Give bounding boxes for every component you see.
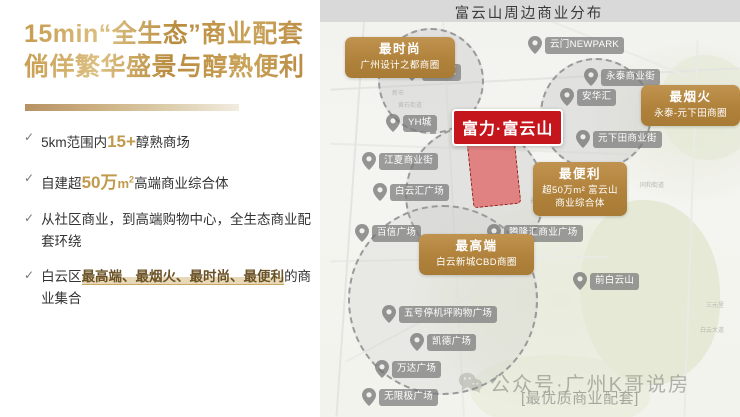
map-micro-label: 同和街道 <box>640 180 664 189</box>
panel-title: 15min“全生态”商业配套 倘佯繁华盛景与醇熟便利 <box>24 18 310 84</box>
map-pin-icon <box>576 130 590 148</box>
poi-marker[interactable]: 永泰商业街 <box>584 68 660 86</box>
map-micro-label: 三元里 <box>706 300 724 309</box>
map-pin-icon <box>382 305 396 323</box>
poi-label: 安华汇 <box>577 89 616 106</box>
gold-callout-subtitle: 永泰-元下田商圈 <box>650 107 731 120</box>
map-pin-icon <box>573 272 587 290</box>
gold-callout-subtitle: 广州设计之都商圈 <box>354 59 446 72</box>
project-main-label[interactable]: 富力·富云山 <box>452 109 563 146</box>
check-icon: ✓ <box>24 209 34 228</box>
gold-callout-title: 最高端 <box>428 239 525 255</box>
gold-callout-title: 最时尚 <box>354 42 446 58</box>
poi-label: 前白云山 <box>590 273 639 290</box>
bullet-item: ✓5km范围内15+醇熟商场 <box>24 128 314 156</box>
panel-title-line2: 倘佯繁华盛景与醇熟便利 <box>24 51 310 84</box>
poi-label: 百信广场 <box>372 225 421 242</box>
watermark-overlay: [最优质商业配套] <box>521 387 639 408</box>
poi-marker[interactable]: YH城 <box>386 114 437 132</box>
map-micro-label: 白云大道 <box>700 325 724 334</box>
map-pin-icon <box>410 333 424 351</box>
bullet-text-span: 白云区 <box>41 269 82 284</box>
poi-label: 凯德广场 <box>427 334 476 351</box>
check-icon: ✓ <box>24 266 34 285</box>
gold-callout[interactable]: 最高端白云新城CBD商圈 <box>419 234 534 275</box>
bullet-text: 自建超50万m2高端商业综合体 <box>41 169 314 197</box>
poi-label: 永泰商业街 <box>601 69 660 86</box>
poi-marker[interactable]: 安华汇 <box>560 88 616 106</box>
poi-marker[interactable]: 五号停机坪购物广场 <box>382 305 497 323</box>
check-icon: ✓ <box>24 128 34 147</box>
bullet-text-span: 5km范围内 <box>41 135 107 150</box>
map-pin-icon <box>528 36 542 54</box>
map-pin-icon <box>584 68 598 86</box>
poi-marker[interactable]: 白云汇广场 <box>373 183 449 201</box>
poi-label: 云门NEWPARK <box>545 37 624 54</box>
bullet-text-span: 自建超 <box>41 176 82 191</box>
poi-label: YH城 <box>403 115 437 132</box>
bullet-text-span: 50万 <box>82 173 118 192</box>
poi-marker[interactable]: 百信广场 <box>355 224 421 242</box>
poi-marker[interactable]: 元下田商业街 <box>576 130 662 148</box>
wechat-icon <box>458 372 483 393</box>
bullet-item: ✓从社区商业，到高端购物中心，全生态商业配套环绕 <box>24 209 314 253</box>
bullet-text-span: m <box>117 176 129 191</box>
gold-callout-subtitle: 超50万m² 富云山商业综合体 <box>542 184 618 211</box>
title-divider <box>25 104 239 111</box>
poi-marker[interactable]: 前白云山 <box>573 272 639 290</box>
bullet-text-span: 从社区商业，到高端购物中心，全生态商业配套环绕 <box>41 212 311 249</box>
map-title: 富云山周边商业分布 <box>318 2 740 23</box>
bullet-text-span: 醇熟商场 <box>136 135 190 150</box>
map-micro-label: 新市 <box>392 88 404 97</box>
bullet-item: ✓自建超50万m2高端商业综合体 <box>24 169 314 197</box>
map-pin-icon <box>373 183 387 201</box>
bullet-item: ✓白云区最高端、最烟火、最时尚、最便利的商业集合 <box>24 266 314 310</box>
map-pin-icon <box>386 114 400 132</box>
gold-callout-title: 最便利 <box>542 167 618 183</box>
gold-callout[interactable]: 最时尚广州设计之都商圈 <box>345 37 455 78</box>
poi-label: 白云汇广场 <box>390 184 449 201</box>
project-parcel-polygon <box>467 138 522 209</box>
bullet-text: 白云区最高端、最烟火、最时尚、最便利的商业集合 <box>41 266 314 310</box>
map-pin-icon <box>355 224 369 242</box>
poi-marker[interactable]: 无限极广场 <box>362 388 438 406</box>
bullet-text: 5km范围内15+醇熟商场 <box>41 128 314 156</box>
map-pin-icon <box>560 88 574 106</box>
poi-label: 元下田商业街 <box>593 131 662 148</box>
bullet-list: ✓5km范围内15+醇熟商场✓自建超50万m2高端商业综合体✓从社区商业，到高端… <box>24 128 314 323</box>
gold-callout[interactable]: 最便利超50万m² 富云山商业综合体 <box>533 162 627 216</box>
poi-label: 五号停机坪购物广场 <box>399 306 497 323</box>
poi-label: 江夏商业街 <box>379 153 438 170</box>
map-pin-icon <box>362 388 376 406</box>
slide-root: 新市 黄石街道 景泰 同和街道 白云大道 三元里 富云山周边商业分布 云门NEW… <box>0 0 740 417</box>
bullet-text-span: 15+ <box>107 132 136 151</box>
map-pin-icon <box>362 152 376 170</box>
gold-callout-subtitle: 白云新城CBD商圈 <box>428 256 525 269</box>
bullet-text-span: 最高端、最烟火、最时尚、最便利 <box>82 269 285 285</box>
left-info-panel: 15min“全生态”商业配套 倘佯繁华盛景与醇熟便利 ✓5km范围内15+醇熟商… <box>0 0 320 417</box>
map-pin-icon <box>375 360 389 378</box>
poi-marker[interactable]: 万达广场 <box>375 360 441 378</box>
gold-callout-title: 最烟火 <box>650 90 731 106</box>
poi-marker[interactable]: 凯德广场 <box>410 333 476 351</box>
poi-label: 万达广场 <box>392 361 441 378</box>
bullet-text-span: 高端商业综合体 <box>134 176 229 191</box>
poi-marker[interactable]: 江夏商业街 <box>362 152 438 170</box>
check-icon: ✓ <box>24 169 34 188</box>
terrain-blob-right <box>580 200 720 385</box>
poi-label: 无限极广场 <box>379 389 438 406</box>
map-micro-label: 黄石街道 <box>398 100 422 109</box>
gold-callout[interactable]: 最烟火永泰-元下田商圈 <box>641 85 740 126</box>
panel-title-line1: 15min“全生态”商业配套 <box>24 18 310 51</box>
bullet-text: 从社区商业，到高端购物中心，全生态商业配套环绕 <box>41 209 314 253</box>
poi-marker[interactable]: 云门NEWPARK <box>528 36 624 54</box>
